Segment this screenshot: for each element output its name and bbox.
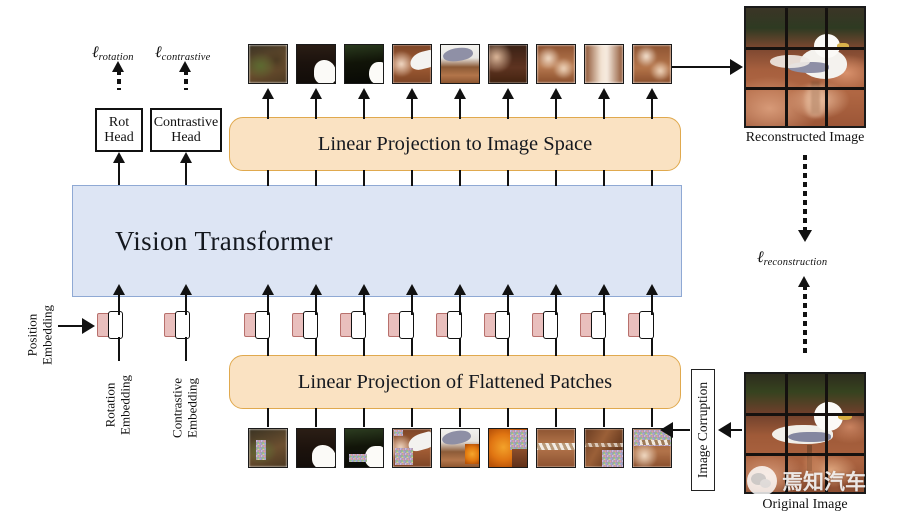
token-patch-embedding[interactable] <box>436 311 462 339</box>
line-projection-to-output-patch <box>363 97 365 119</box>
arrow-up-output-patch <box>262 88 274 99</box>
input-patch <box>344 428 384 468</box>
tick-vit-to-projection <box>315 170 317 186</box>
patch-corruption-block <box>584 443 624 448</box>
loss-reconstruction-subscript: reconstruction <box>764 257 828 268</box>
patch-image <box>585 45 623 83</box>
token-patch-embedding[interactable] <box>244 311 270 339</box>
token-patch-part <box>591 311 606 339</box>
tick-vit-to-projection <box>507 170 509 186</box>
contrastive-head-label-line2: Head <box>171 130 201 145</box>
patch-corruption-block <box>394 430 403 436</box>
watermark-text: 焉知汽车 <box>782 466 866 496</box>
loss-rotation-symbol: ℓ <box>92 42 99 61</box>
arrow-up-token-to-vit <box>358 284 370 295</box>
tick-projection-to-token <box>411 338 413 356</box>
patch-subject <box>369 62 384 84</box>
output-patch <box>296 44 336 84</box>
line-token-to-vit <box>507 293 509 315</box>
arrow-up-output-patch <box>598 88 610 99</box>
tick-vit-to-projection <box>363 170 365 186</box>
patch-corruption-block <box>465 444 480 464</box>
arrow-up-output-patch <box>550 88 562 99</box>
arrow-up-token-to-vit <box>598 284 610 295</box>
reconstructed-image-caption: Reconstructed Image <box>744 130 866 146</box>
line-token-to-vit <box>411 293 413 315</box>
token-patch-part <box>175 311 190 339</box>
contrastive-embedding-line1: Contrastive <box>169 378 184 438</box>
token-patch-part <box>303 311 318 339</box>
tick-projection-to-token <box>459 338 461 356</box>
tick-vit-to-projection <box>651 170 653 186</box>
line-vit-to-rot-head <box>118 163 120 187</box>
token-patch-part <box>639 311 654 339</box>
patch-corruption-block <box>312 445 336 468</box>
arrow-up-output-patch <box>502 88 514 99</box>
patch-image <box>633 45 671 83</box>
watermark: 焉知汽车 <box>747 466 866 496</box>
line-projection-to-output-patch <box>603 97 605 119</box>
token-rotation-embedding[interactable] <box>97 311 123 339</box>
patch-corruption-block <box>349 454 367 462</box>
line-projection-to-output-patch <box>459 97 461 119</box>
arrow-up-token-to-vit <box>502 284 514 295</box>
line-projection-to-output-patch <box>555 97 557 119</box>
line-corruption-to-patches <box>670 429 690 431</box>
tick-vit-to-projection <box>555 170 557 186</box>
diagram-canvas: ℓrotation ℓcontrastive Rot Head Contrast… <box>0 0 900 523</box>
tick-projection-to-token <box>267 338 269 356</box>
tick-projection-to-token <box>555 338 557 356</box>
output-patch <box>632 44 672 84</box>
linear-projection-of-flattened-patches-box[interactable]: Linear Projection of Flattened Patches <box>229 355 681 409</box>
arrow-up-token-to-vit <box>550 284 562 295</box>
loss-contrastive-symbol: ℓ <box>155 42 162 61</box>
patch-corruption-block <box>536 443 576 450</box>
rot-head-label-line2: Head <box>104 130 134 145</box>
output-patch <box>392 44 432 84</box>
patch-image <box>249 45 287 83</box>
linear-projection-to-image-space-box[interactable]: Linear Projection to Image Space <box>229 117 681 171</box>
arrow-up-rotation-loss <box>112 61 124 72</box>
patch-subject <box>314 60 335 84</box>
output-patch <box>584 44 624 84</box>
position-embedding-line2: Embedding <box>39 305 54 365</box>
patch-corruption-block <box>602 450 624 467</box>
line-token-to-vit <box>459 293 461 315</box>
token-patch-part <box>255 311 270 339</box>
position-embedding-line1: Position <box>24 314 39 357</box>
patch-corruption-block <box>510 430 528 450</box>
line-vit-to-contrastive-head <box>185 163 187 187</box>
tick-projection-to-token <box>315 338 317 356</box>
line-token-to-vit <box>651 293 653 315</box>
arrow-up-output-patch <box>646 88 658 99</box>
arrow-up-output-patch <box>310 88 322 99</box>
arrow-down-reconstruction-loss <box>798 230 812 242</box>
arrow-right-reconstructed-image <box>730 59 743 75</box>
wechat-logo-icon <box>747 466 777 496</box>
patch-image <box>249 429 287 467</box>
tick-projection-to-token <box>363 338 365 356</box>
rotation-embedding-caption: Rotation Embedding <box>96 362 140 448</box>
input-patch <box>248 428 288 468</box>
rot-head-label-line1: Rot <box>109 115 129 130</box>
token-patch-part <box>351 311 366 339</box>
arrow-up-token-to-vit <box>646 284 658 295</box>
arrow-up-token-to-vit <box>454 284 466 295</box>
patch-corruption-block <box>256 440 266 460</box>
arrow-up-rot-head <box>113 152 125 163</box>
patch-corruption-block <box>365 446 384 467</box>
position-embedding-caption: Position Embedding <box>18 290 62 380</box>
tick-vit-to-projection <box>603 170 605 186</box>
linear-projection-of-flattened-patches-label: Linear Projection of Flattened Patches <box>298 371 612 394</box>
arrow-left-input-patches <box>660 422 673 438</box>
line-projection-to-output-patch <box>315 97 317 119</box>
token-patch-embedding[interactable] <box>532 311 558 339</box>
arrow-up-output-patch <box>406 88 418 99</box>
tick-patch-to-projection <box>267 408 269 427</box>
line-token-to-vit <box>267 293 269 315</box>
arrow-up-output-patch <box>358 88 370 99</box>
original-image-caption: Original Image <box>744 497 866 513</box>
token-patch-part <box>399 311 414 339</box>
input-patch <box>296 428 336 468</box>
output-patch <box>344 44 384 84</box>
patch-image <box>537 45 575 83</box>
arrow-right-position-embedding <box>82 318 95 334</box>
arrow-up-contrastive-loss <box>179 61 191 72</box>
arrow-up-reconstruction-loss <box>798 276 810 287</box>
loss-contrastive-label: ℓcontrastive <box>155 42 211 63</box>
input-patch <box>392 428 432 468</box>
contrastive-embedding-line2: Embedding <box>184 378 199 438</box>
line-projection-to-output-patch <box>507 97 509 119</box>
token-patch-embedding[interactable] <box>628 311 654 339</box>
line-token-to-vit <box>555 293 557 315</box>
input-patch <box>440 428 480 468</box>
arrow-up-contrastive-token <box>180 284 192 295</box>
tick-patch-to-projection <box>507 408 509 427</box>
tick-vit-to-projection <box>267 170 269 186</box>
token-patch-embedding[interactable] <box>340 311 366 339</box>
loss-reconstruction-label: ℓreconstruction <box>757 247 827 268</box>
line-rotation-token-up <box>118 293 120 315</box>
input-patch <box>536 428 576 468</box>
tick-patch-to-projection <box>363 408 365 427</box>
image-corruption-label: Image Corruption <box>695 382 711 478</box>
arrow-left-image-corruption <box>718 422 731 438</box>
vision-transformer-box[interactable]: Vision Transformer <box>72 185 682 297</box>
arrow-up-token-to-vit <box>406 284 418 295</box>
line-token-to-vit <box>363 293 365 315</box>
line-projection-to-output-patch <box>267 97 269 119</box>
dotted-line-rotation-loss <box>117 70 121 90</box>
token-patch-embedding[interactable] <box>484 311 510 339</box>
loss-reconstruction-symbol: ℓ <box>757 247 764 266</box>
token-patch-part <box>495 311 510 339</box>
dotted-line-original-to-loss <box>803 285 807 353</box>
contrastive-head-box[interactable]: Contrastive Head <box>150 108 222 152</box>
patch-image <box>489 45 527 83</box>
dotted-line-contrastive-loss <box>184 70 188 90</box>
patch-corruption-block <box>395 448 412 465</box>
rotation-embedding-line1: Rotation <box>102 383 117 428</box>
token-patch-part <box>543 311 558 339</box>
image-corruption-box[interactable]: Image Corruption <box>691 369 715 491</box>
line-projection-to-output-patch <box>651 97 653 119</box>
token-patch-part <box>108 311 123 339</box>
rot-head-box[interactable]: Rot Head <box>95 108 143 152</box>
tick-patch-to-projection <box>651 408 653 427</box>
output-patch <box>536 44 576 84</box>
dotted-line-reconstructed-to-loss <box>803 155 807 233</box>
patch-corruption-block <box>640 440 670 445</box>
tick-projection-to-token <box>507 338 509 356</box>
line-token-to-vit <box>603 293 605 315</box>
tick-patch-to-projection <box>603 408 605 427</box>
tick-patch-to-projection <box>555 408 557 427</box>
arrow-up-rotation-token <box>113 284 125 295</box>
line-rotation-token-down <box>118 337 120 361</box>
tick-projection-to-token <box>651 338 653 356</box>
rotation-embedding-line2: Embedding <box>117 375 132 435</box>
line-token-to-vit <box>315 293 317 315</box>
line-to-reconstructed-image <box>672 66 734 68</box>
tick-vit-to-projection <box>411 170 413 186</box>
arrow-up-contrastive-head <box>180 152 192 163</box>
vision-transformer-label: Vision Transformer <box>115 226 333 257</box>
input-patch <box>584 428 624 468</box>
arrow-up-token-to-vit <box>310 284 322 295</box>
input-patch <box>488 428 528 468</box>
line-contrastive-token-up <box>185 293 187 315</box>
tick-patch-to-projection <box>315 408 317 427</box>
line-projection-to-output-patch <box>411 97 413 119</box>
token-patch-part <box>447 311 462 339</box>
token-contrastive-embedding[interactable] <box>164 311 190 339</box>
tick-patch-to-projection <box>411 408 413 427</box>
linear-projection-to-image-space-label: Linear Projection to Image Space <box>318 133 592 156</box>
token-patch-embedding[interactable] <box>580 311 606 339</box>
arrow-up-token-to-vit <box>262 284 274 295</box>
line-contrastive-token-down <box>185 337 187 361</box>
patch-corruption-block <box>512 449 528 468</box>
token-patch-embedding[interactable] <box>292 311 318 339</box>
output-patch <box>248 44 288 84</box>
line-position-embedding <box>58 325 84 327</box>
tick-patch-to-projection <box>459 408 461 427</box>
token-patch-embedding[interactable] <box>388 311 414 339</box>
output-patch <box>440 44 480 84</box>
reconstructed-image <box>744 6 866 128</box>
arrow-up-output-patch <box>454 88 466 99</box>
contrastive-embedding-caption: Contrastive Embedding <box>163 362 207 454</box>
loss-rotation-label: ℓrotation <box>92 42 134 63</box>
tick-vit-to-projection <box>459 170 461 186</box>
output-patch <box>488 44 528 84</box>
contrastive-head-label-line1: Contrastive <box>154 115 219 130</box>
tick-projection-to-token <box>603 338 605 356</box>
